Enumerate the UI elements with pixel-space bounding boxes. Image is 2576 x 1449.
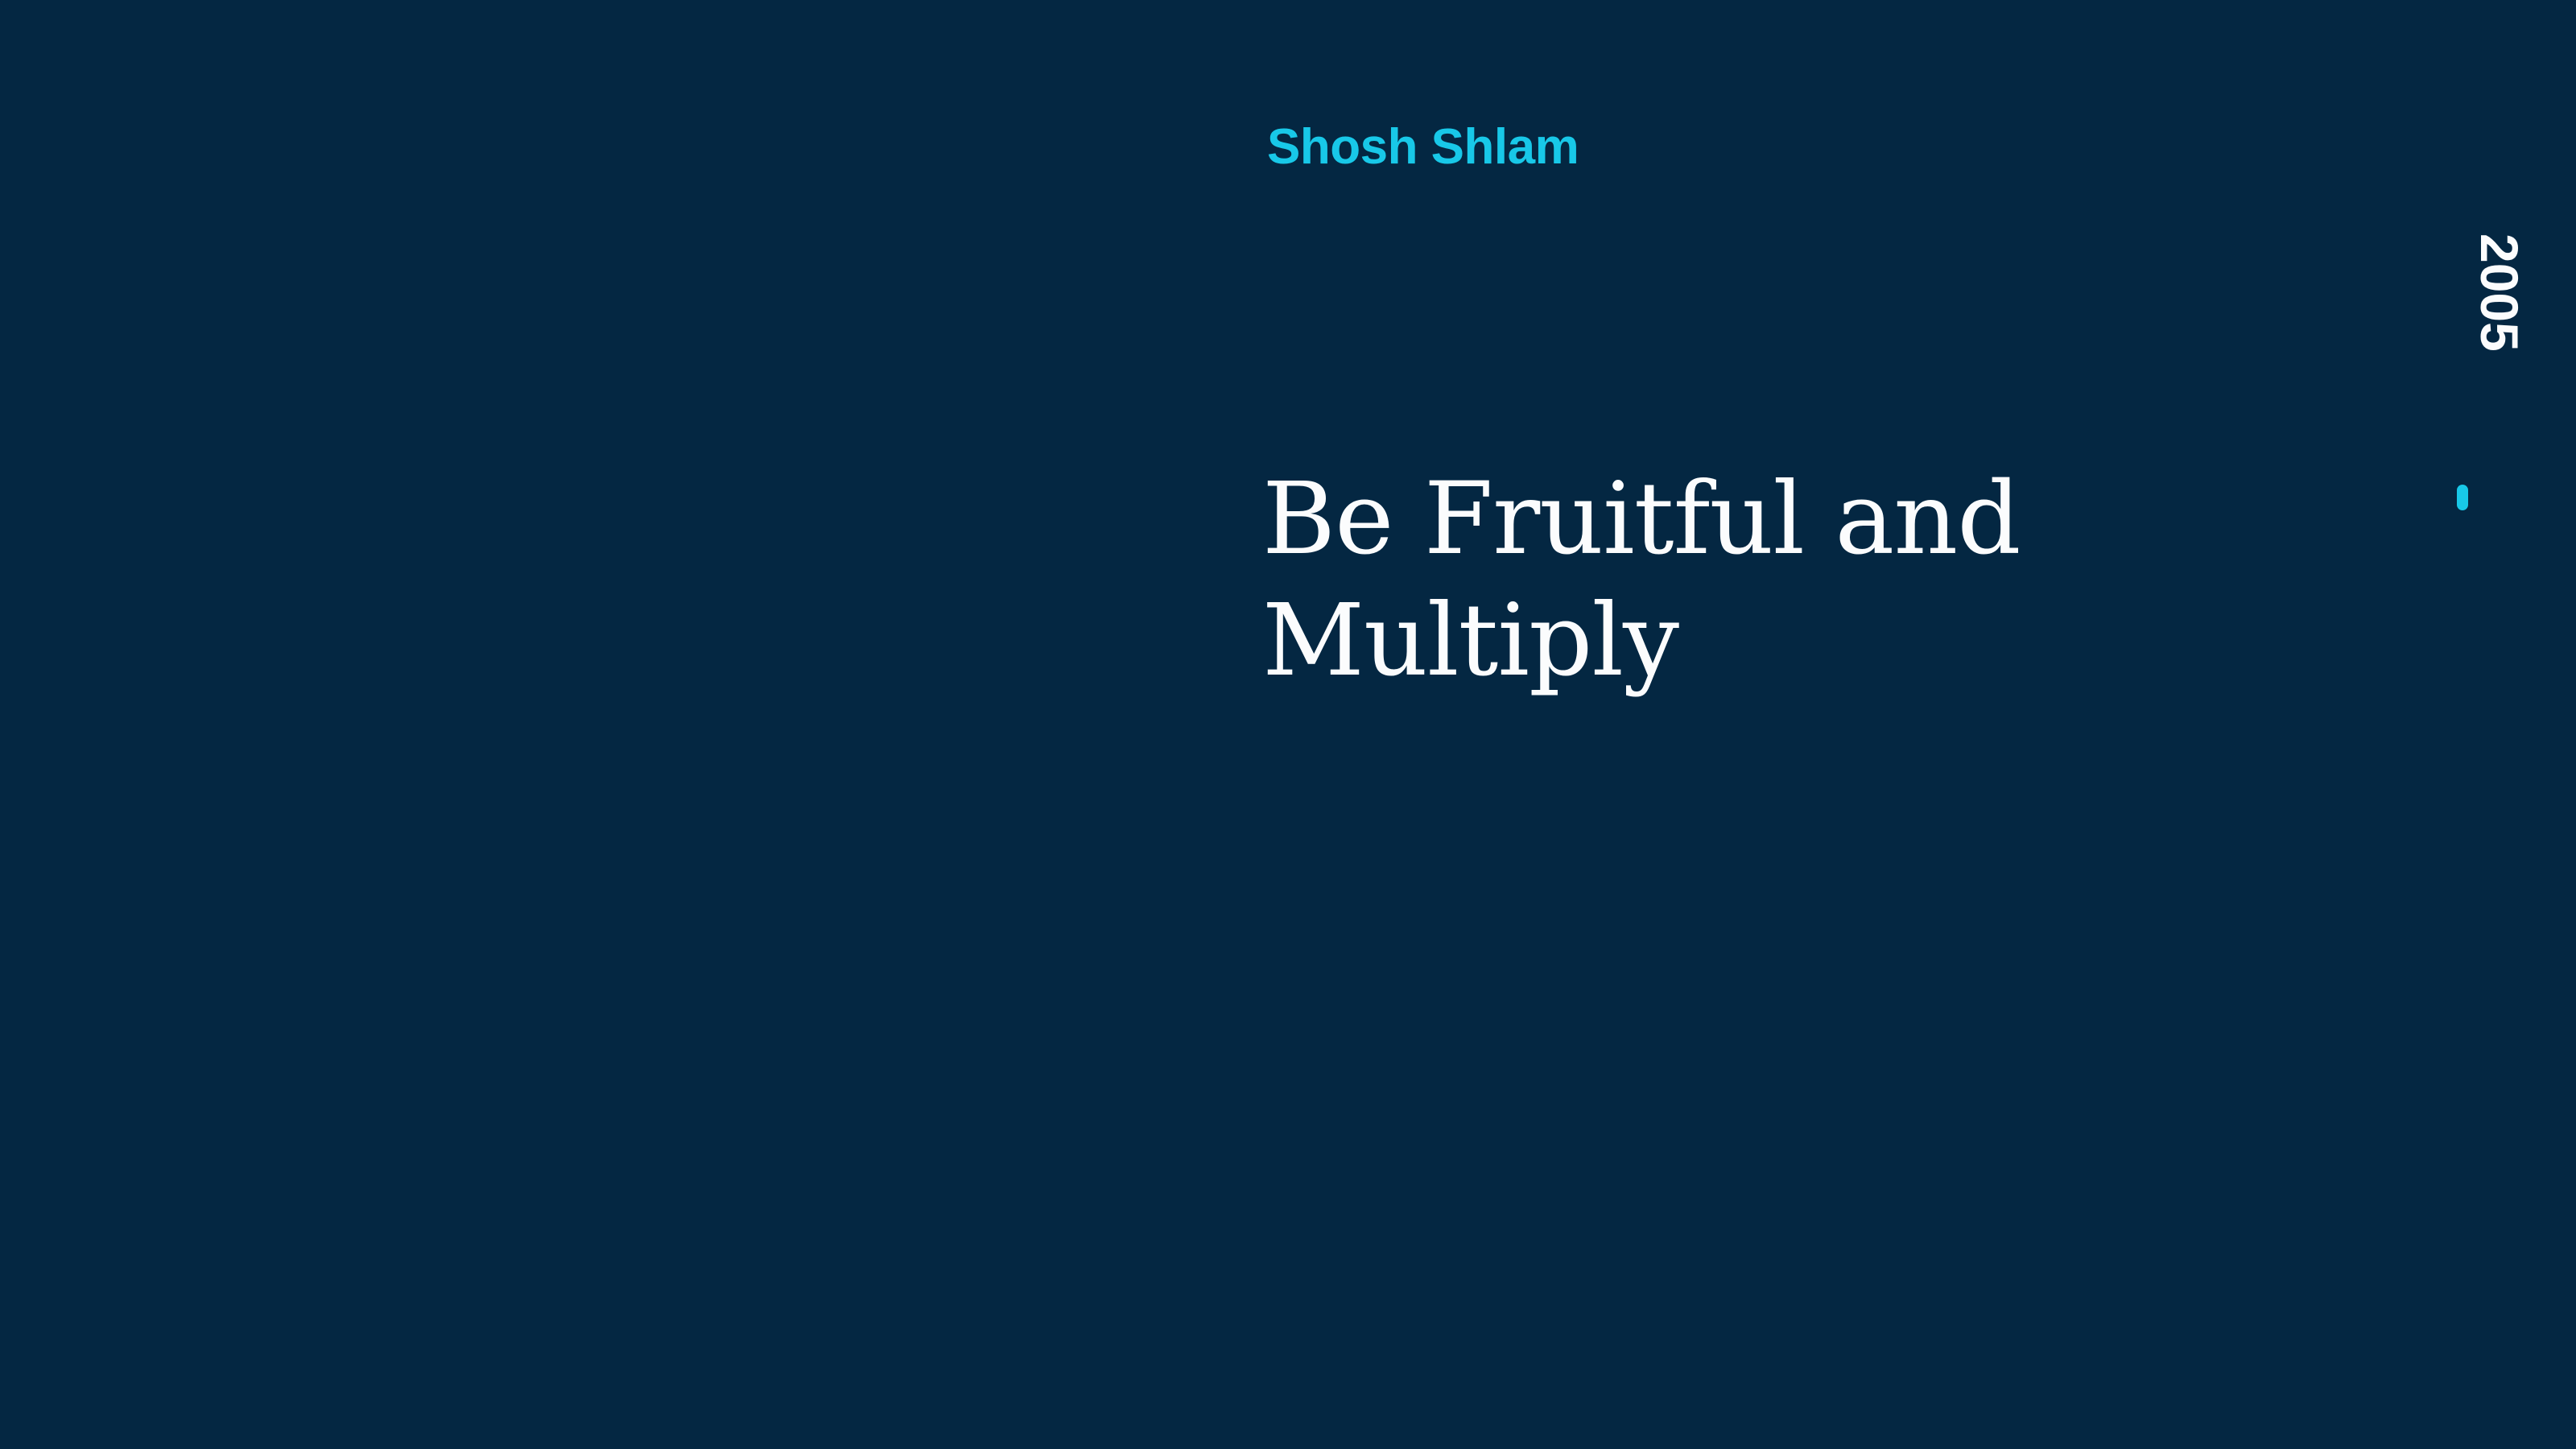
film-title-line-1: Be Fruitful and [1262,459,2067,580]
year-label: 2005 [2471,233,2528,427]
year-block: 2005 [2415,233,2528,539]
page-title: Be Fruitful and Multiply [1262,459,2067,703]
title-card: Shosh Shlam Be Fruitful and Multiply 200… [0,0,2576,1449]
year-divider-dash-icon [2457,485,2468,510]
film-title-line-2: Multiply [1262,580,2067,702]
credit-name: Shosh Shlam [1267,121,1579,173]
